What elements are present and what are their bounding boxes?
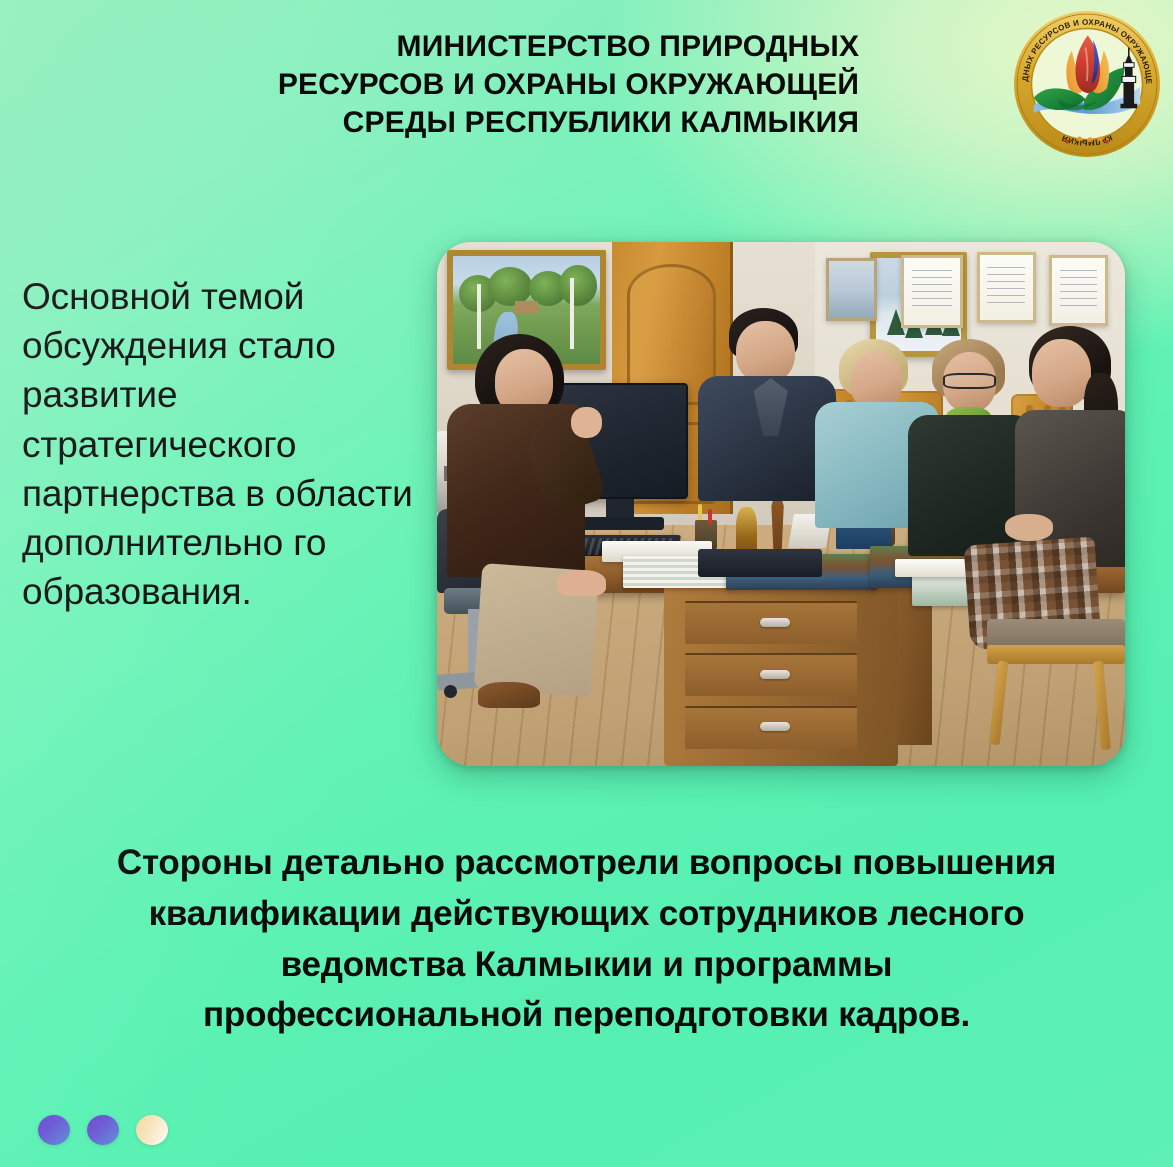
pagination-dot-3[interactable]	[136, 1115, 168, 1145]
person-5-hands	[1005, 514, 1053, 540]
certificate-1	[901, 255, 963, 328]
ministry-emblem-icon: МИНИСТЕРСТВО ПРИРОДНЫХ РЕСУРСОВ И ОХРАНЫ…	[1011, 8, 1163, 160]
lead-paragraph: Основной темой обсуждения стало развитие…	[22, 272, 414, 616]
page-title-line-3: СРЕДЫ РЕСПУБЛИКИ КАЛМЫКИЯ	[278, 104, 859, 142]
page-title-line-1: МИНИСТЕРСТВО ПРИРОДНЫХ	[278, 28, 859, 66]
person-1-hand-raised	[571, 407, 602, 438]
wooden-chair-right-frame	[987, 645, 1125, 663]
pagination-dots[interactable]	[38, 1115, 168, 1145]
chair-caster-1	[444, 685, 457, 698]
desk-drawer-3	[685, 706, 857, 749]
body-line-2: квалификации действующих сотрудников лес…	[26, 889, 1147, 940]
person-5-head	[1032, 339, 1090, 407]
page-title-line-2: РЕСУРСОВ И ОХРАНЫ ОКРУЖАЮЩЕЙ	[278, 66, 859, 104]
desk-drawer-2	[685, 653, 857, 696]
desk-drawer-1	[685, 601, 857, 644]
body-line-1: Стороны детально рассмотрели вопросы пов…	[26, 838, 1147, 889]
body-line-4: профессиональной переподготовки кадров.	[26, 990, 1147, 1041]
person-2-head	[736, 321, 794, 384]
body-line-3: ведомства Калмыкии и программы	[26, 940, 1147, 991]
header: МИНИСТЕРСТВО ПРИРОДНЫХ РЕСУРСОВ И ОХРАНЫ…	[0, 22, 1173, 172]
body-paragraph: Стороны детально рассмотрели вопросы пов…	[26, 838, 1147, 1041]
certificate-3	[1049, 255, 1107, 326]
person-1-hand-on-desk	[557, 570, 605, 596]
page-title: МИНИСТЕРСТВО ПРИРОДНЫХ РЕСУРСОВ И ОХРАНЫ…	[278, 28, 859, 141]
meeting-photo-card	[437, 242, 1125, 766]
wall-photo-frame	[826, 258, 878, 321]
desk-side-panel	[898, 588, 932, 745]
person-1-shoe	[478, 682, 540, 708]
briefcase	[698, 549, 822, 578]
monitor-base	[575, 517, 664, 530]
meeting-photo	[437, 242, 1125, 766]
pagination-dot-2[interactable]	[87, 1115, 119, 1145]
pagination-dot-1[interactable]	[38, 1115, 70, 1145]
slide-root: МИНИСТЕРСТВО ПРИРОДНЫХ РЕСУРСОВ И ОХРАНЫ…	[0, 0, 1173, 1167]
certificate-2	[977, 252, 1035, 323]
bottle	[736, 507, 757, 554]
person-4-glasses	[943, 373, 995, 389]
